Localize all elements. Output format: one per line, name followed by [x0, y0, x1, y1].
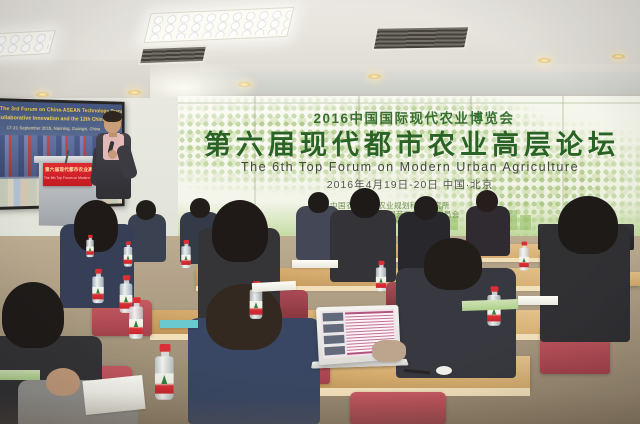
- handout-paper: [518, 296, 558, 305]
- podium-sign-chinese: 第六届现代都市农业高层论坛: [45, 167, 90, 173]
- water-bottle: [124, 241, 132, 266]
- downlight-icon: [128, 90, 141, 95]
- water-bottle: [519, 242, 529, 271]
- downlight-icon: [368, 74, 381, 79]
- banner-main-title: 第六届现代都市农业高层论坛: [186, 123, 638, 162]
- water-bottle: [376, 261, 386, 292]
- downlight-icon: [36, 92, 49, 97]
- banner-english-title: The 6th Top Forum on Modern Urban Agricu…: [190, 160, 630, 174]
- mouse: [436, 366, 452, 375]
- green-folder: [462, 299, 518, 311]
- notepad: [82, 375, 145, 415]
- conference-photo: 2016中国国际现代农业博览会 第六届现代都市农业高层论坛 The 6th To…: [0, 0, 640, 424]
- water-bottle: [86, 235, 93, 257]
- banner-date-location: 2016年4月19日-20日 中国·北京: [190, 177, 630, 192]
- handout-paper: [292, 260, 338, 268]
- speaker-hair: [103, 111, 122, 122]
- handout-paper: [160, 320, 198, 328]
- podium-sign-english: The 6th Top Forum on Modern Urban Agricu…: [44, 176, 91, 180]
- speaker-hand: [108, 150, 117, 159]
- podium-sign: 第六届现代都市农业高层论坛 The 6th Top Forum on Moder…: [43, 163, 92, 186]
- water-bottle: [92, 269, 103, 303]
- laptop-thumbnail-column: [323, 313, 346, 357]
- hvac-vent-right-icon: [371, 25, 470, 51]
- green-folder: [0, 370, 40, 380]
- chair: [350, 392, 446, 424]
- water-bottle: [155, 344, 174, 400]
- water-bottle: [129, 297, 143, 338]
- water-bottle: [181, 240, 190, 268]
- downlight-icon: [612, 54, 625, 59]
- ceiling-light-panel-secondary-icon: [0, 30, 56, 58]
- downlight-icon: [538, 58, 551, 63]
- cable-bundle: [372, 340, 406, 362]
